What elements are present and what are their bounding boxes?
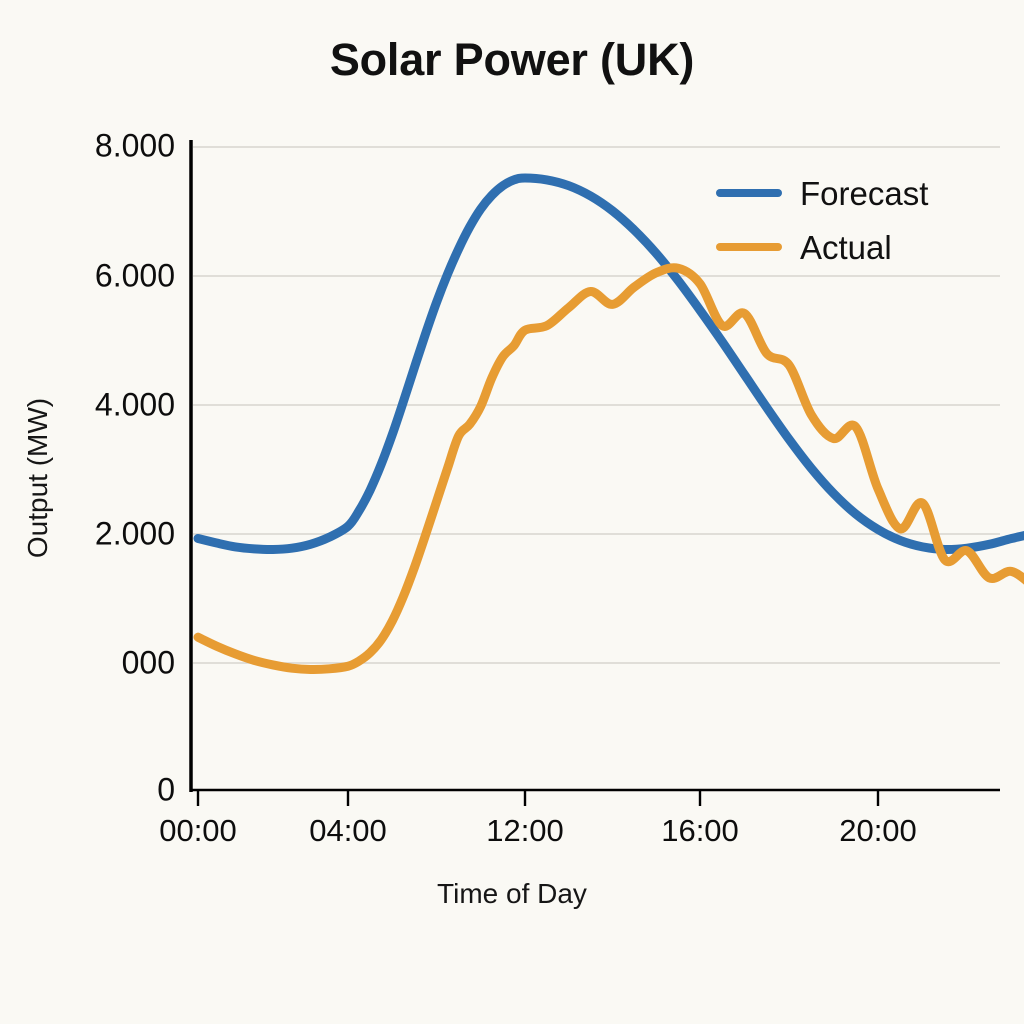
plot-area (0, 0, 1024, 1024)
gridlines (193, 147, 1000, 663)
line-series-actual (198, 268, 1024, 670)
x-axis-ticks (198, 790, 878, 806)
axis-lines (191, 140, 1000, 792)
data-series-layer (198, 178, 1024, 670)
line-series-forecast (198, 178, 1024, 550)
chart-figure: Solar Power (UK) Output (MW) Time of Day… (0, 0, 1024, 1024)
